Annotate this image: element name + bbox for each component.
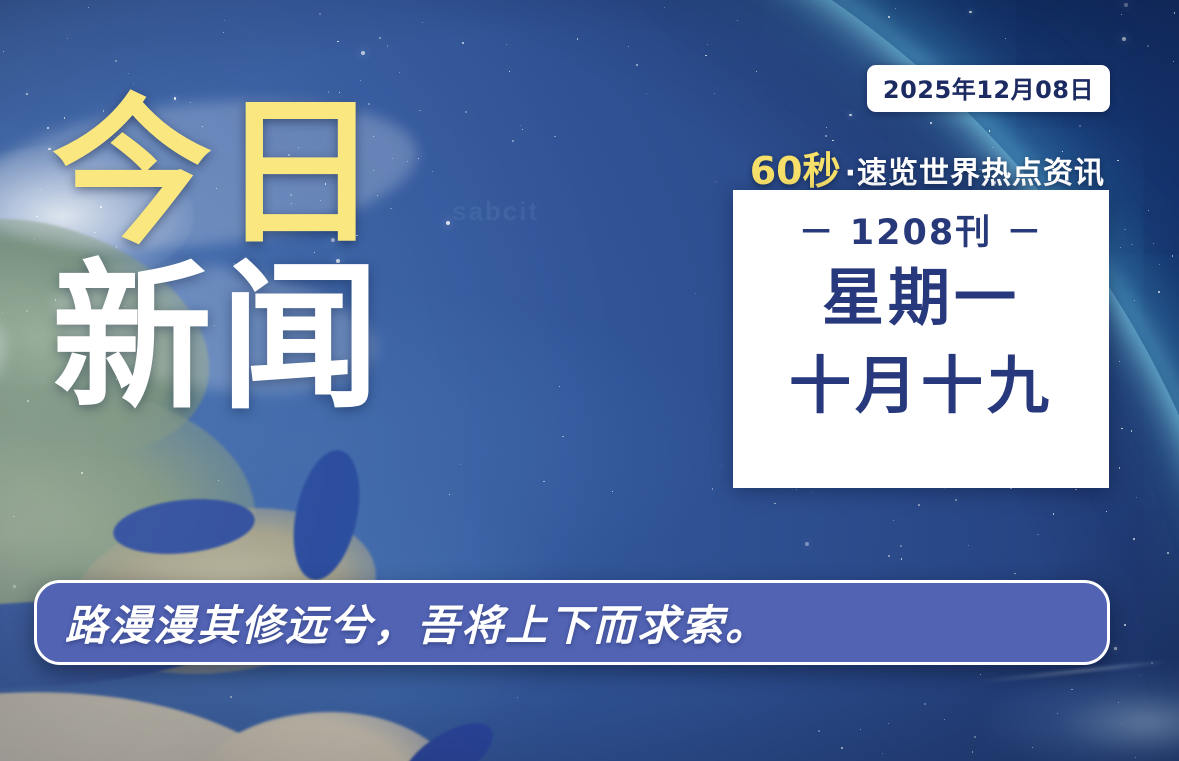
news-poster: sabcit 今日 新闻 2025年12月08日 60秒·速览世界热点资讯 － … — [0, 0, 1179, 761]
watermark-text: sabcit — [452, 196, 539, 227]
issue-number: － 1208刊 － — [799, 204, 1044, 255]
weekday-label: 星期一 — [822, 267, 1020, 329]
lunar-date-label: 十月十九 — [789, 355, 1053, 417]
tagline: 60秒·速览世界热点资讯 — [750, 140, 1105, 195]
info-card: － 1208刊 － 星期一 十月十九 — [733, 190, 1109, 488]
quote-bar: 路漫漫其修远兮，吾将上下而求索。 — [34, 580, 1110, 665]
tagline-highlight: 60秒 — [750, 149, 841, 193]
quote-text: 路漫漫其修远兮，吾将上下而求索。 — [37, 592, 769, 653]
title-line-jinri: 今日 — [52, 95, 388, 252]
poster-title: 今日 新闻 — [52, 95, 388, 417]
tagline-rest: ·速览世界热点资讯 — [845, 156, 1105, 191]
title-line-xinwen: 新闻 — [52, 260, 388, 417]
date-badge: 2025年12月08日 — [867, 65, 1110, 112]
